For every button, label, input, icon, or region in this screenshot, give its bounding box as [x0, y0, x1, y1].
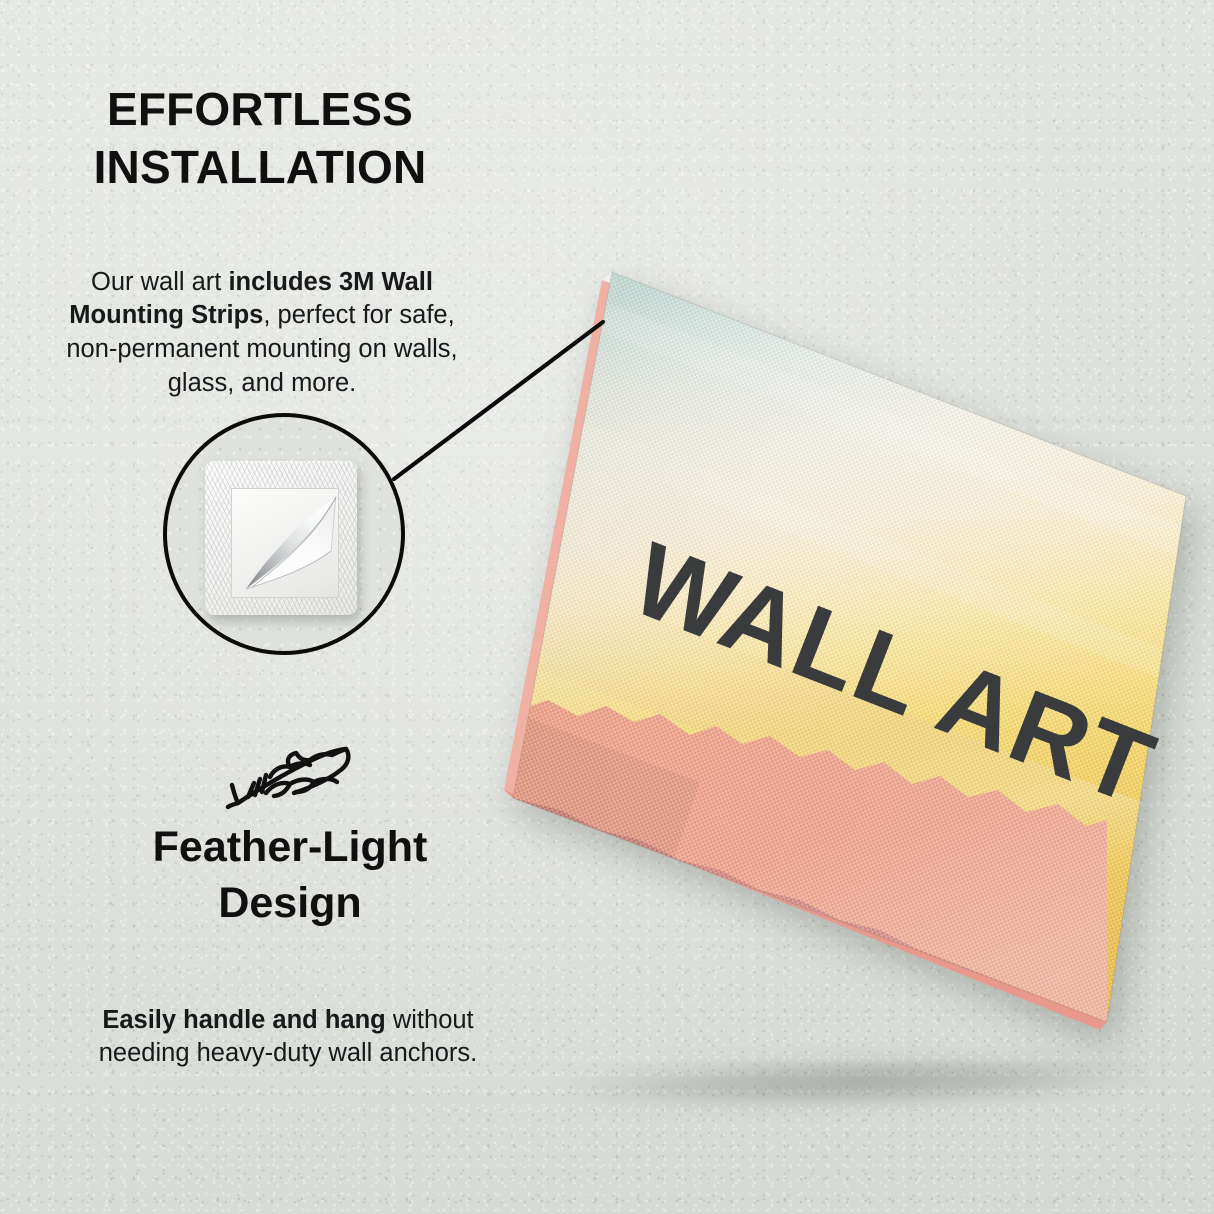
canvas-face: [513, 272, 1190, 1022]
feather-light-title: Feather-Light Design: [80, 820, 500, 932]
mounting-strip-pad: [205, 461, 357, 615]
peeling-liner-corner: [232, 489, 339, 598]
closing-text-rest: [386, 1006, 393, 1034]
closing-text-bold: Easily handle and hang: [102, 1006, 385, 1034]
mounting-strip-magnifier: [163, 413, 405, 655]
feather-light-description: Easily handle and hang without needing h…: [68, 1004, 508, 1072]
page-title: EFFORTLESS INSTALLATION: [0, 80, 520, 197]
mounting-strip-liner: [231, 488, 339, 598]
feather-icon: [224, 733, 356, 811]
lead-text-before: Our wall art: [91, 268, 228, 296]
installation-description: Our wall art includes 3M Wall Mounting S…: [42, 266, 482, 402]
